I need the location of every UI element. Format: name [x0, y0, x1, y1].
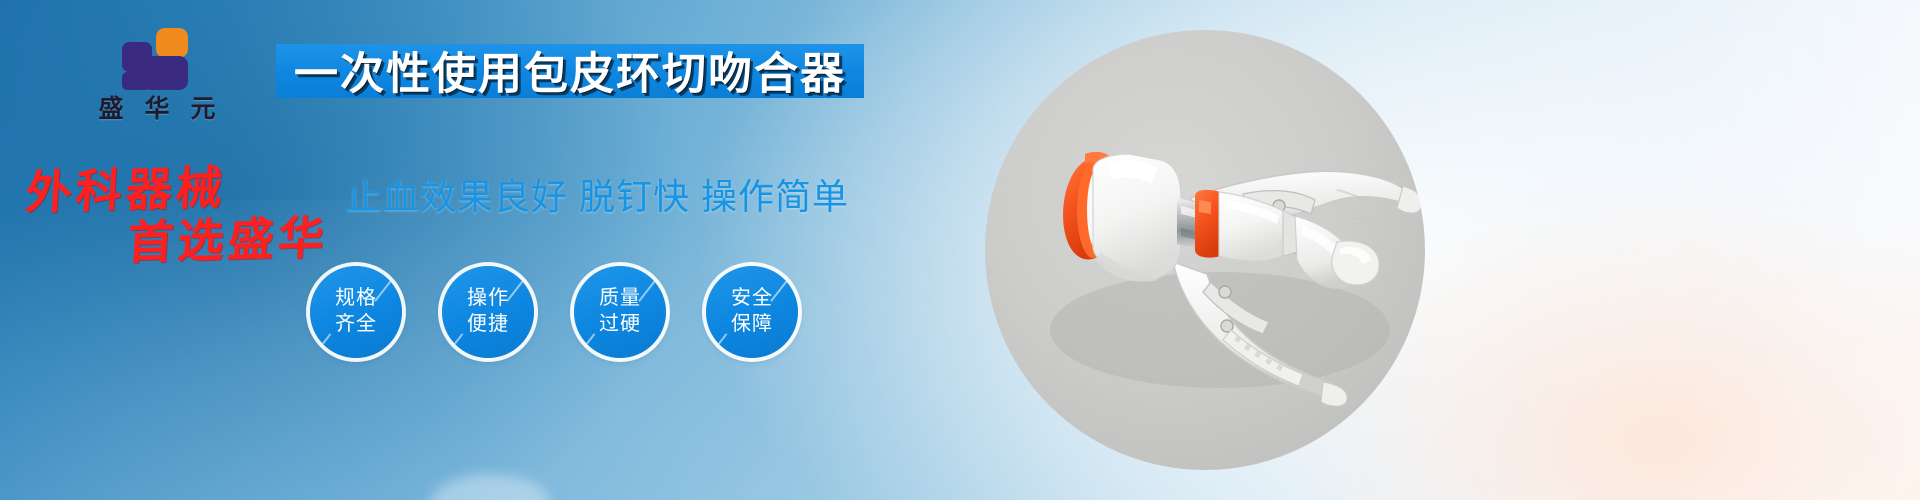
- feature-circle-3[interactable]: 质量 过硬: [574, 266, 666, 358]
- brand-name: 盛 华 元: [62, 96, 252, 124]
- feature-label-line2: 保障: [731, 312, 773, 338]
- background-blob: [430, 474, 550, 500]
- subtitle: 止血效果良好 脱钉快 操作简单: [346, 168, 849, 220]
- shenghuayuan-blocks-logo-icon: [122, 28, 192, 90]
- feature-label-line1: 质量: [599, 286, 641, 312]
- headline-banner: 一次性使用包皮环切吻合器: [276, 44, 864, 98]
- calligraphy-line-2: 首选盛华: [126, 201, 330, 272]
- disposable-circumcision-stapler-photo: [985, 30, 1425, 470]
- page-title: 一次性使用包皮环切吻合器: [294, 38, 846, 102]
- product-photo: [985, 30, 1425, 470]
- feature-label-line2: 便捷: [467, 312, 509, 338]
- highlight-stroke-icon: [319, 333, 332, 348]
- feature-label-line1: 操作: [467, 286, 509, 312]
- highlight-stroke-icon: [451, 333, 464, 348]
- highlight-stroke-icon: [715, 333, 728, 348]
- feature-label-line1: 安全: [731, 286, 773, 312]
- logo-block-d: [122, 72, 150, 90]
- feature-circle-2[interactable]: 操作 便捷: [442, 266, 534, 358]
- calligraphy-slogan: 外科器械 首选盛华: [22, 148, 352, 260]
- feature-label-line1: 规格: [335, 286, 377, 312]
- feature-circle-list: 规格 齐全 操作 便捷 质量 过硬 安全 保障: [310, 266, 798, 358]
- feature-label-line2: 过硬: [599, 312, 641, 338]
- feature-label-line2: 齐全: [335, 312, 377, 338]
- brand-logo[interactable]: 盛 华 元: [62, 28, 252, 124]
- logo-block-b: [156, 28, 188, 58]
- feature-circle-4[interactable]: 安全 保障: [706, 266, 798, 358]
- highlight-stroke-icon: [583, 333, 596, 348]
- feature-circle-1[interactable]: 规格 齐全: [310, 266, 402, 358]
